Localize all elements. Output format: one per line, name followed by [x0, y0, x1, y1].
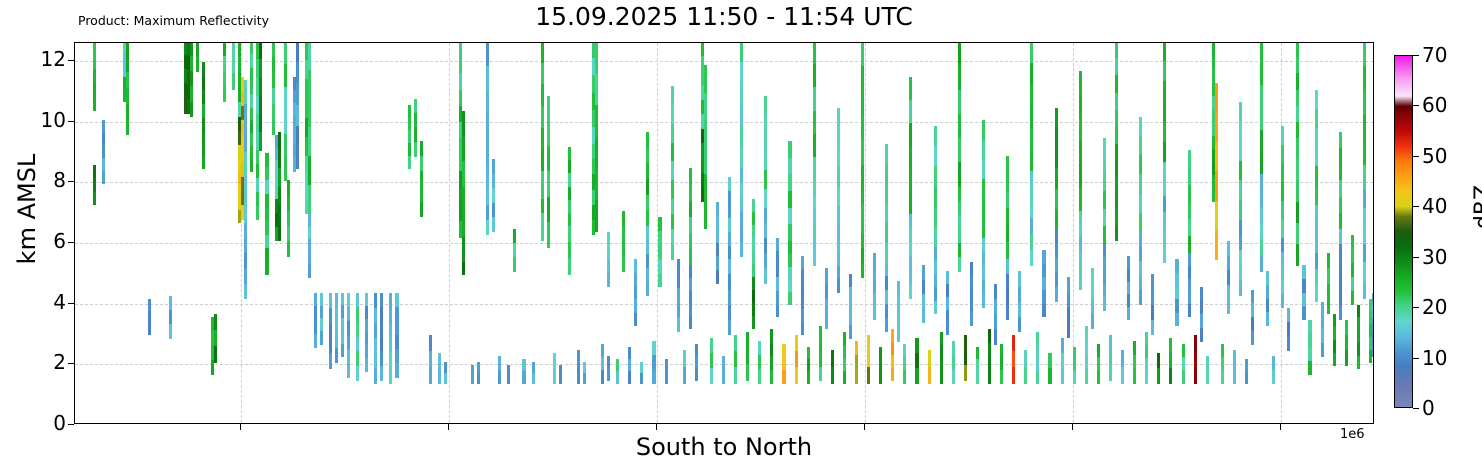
reflectivity-cell	[837, 266, 840, 280]
reflectivity-cell	[308, 214, 311, 227]
reflectivity-cell	[1372, 305, 1374, 318]
reflectivity-column	[634, 42, 637, 423]
reflectivity-cell	[934, 274, 937, 288]
reflectivity-cell	[607, 246, 610, 260]
reflectivity-cell	[671, 143, 674, 162]
reflectivity-cell	[1339, 164, 1342, 181]
reflectivity-cell	[795, 351, 798, 368]
reflectivity-cell	[250, 81, 253, 95]
reflectivity-column	[740, 42, 743, 423]
reflectivity-cell	[389, 338, 392, 354]
reflectivity-cell	[1145, 371, 1148, 384]
reflectivity-column	[429, 42, 432, 423]
reflectivity-column	[595, 42, 598, 423]
reflectivity-cell	[646, 210, 649, 226]
reflectivity-cell	[438, 368, 441, 384]
reflectivity-cell	[1215, 142, 1218, 172]
reflectivity-cell	[1315, 186, 1318, 206]
reflectivity-cell	[1061, 368, 1064, 384]
reflectivity-cell	[1055, 148, 1058, 169]
reflectivity-column	[374, 42, 377, 423]
reflectivity-cell	[522, 359, 525, 372]
reflectivity-cell	[1245, 359, 1248, 372]
reflectivity-cell	[1260, 174, 1263, 191]
reflectivity-cell	[1000, 344, 1003, 358]
reflectivity-column	[278, 42, 281, 423]
reflectivity-cell	[420, 202, 423, 218]
reflectivity-cell	[970, 288, 973, 301]
reflectivity-column	[758, 42, 761, 423]
reflectivity-cell	[764, 253, 767, 269]
reflectivity-cell	[1024, 350, 1027, 367]
reflectivity-cell	[1315, 269, 1318, 286]
reflectivity-cell	[202, 90, 205, 104]
reflectivity-cell	[374, 368, 377, 384]
reflectivity-cell	[634, 259, 637, 273]
reflectivity-cell	[940, 358, 943, 371]
reflectivity-cell	[1163, 229, 1166, 246]
x-axis-offset-text: 1e6	[1340, 427, 1365, 442]
reflectivity-cell	[1139, 276, 1142, 291]
reflectivity-cell	[982, 252, 985, 266]
reflectivity-cell	[704, 65, 707, 93]
reflectivity-cell	[1163, 42, 1166, 62]
reflectivity-cell	[196, 56, 199, 72]
reflectivity-cell	[1139, 117, 1142, 137]
reflectivity-column	[287, 42, 290, 423]
colorbar-tick-label: 30	[1422, 247, 1447, 267]
colorbar-tick-label: 60	[1422, 95, 1447, 115]
reflectivity-cell	[438, 353, 441, 369]
reflectivity-cell	[1245, 371, 1248, 384]
reflectivity-cell	[1036, 358, 1039, 371]
reflectivity-column	[462, 42, 465, 423]
reflectivity-cell	[646, 179, 649, 195]
reflectivity-cell	[764, 268, 767, 284]
reflectivity-cell	[265, 235, 268, 249]
reflectivity-cell	[958, 65, 961, 90]
reflectivity-column	[710, 42, 713, 423]
reflectivity-cell	[813, 180, 816, 195]
reflectivity-cell	[640, 362, 643, 373]
y-tick-mark	[68, 121, 74, 122]
reflectivity-cell	[1036, 371, 1039, 384]
reflectivity-cell	[795, 335, 798, 352]
reflectivity-cell	[1103, 226, 1106, 244]
reflectivity-cell	[308, 185, 311, 214]
reflectivity-cell	[595, 105, 598, 137]
reflectivity-cell	[296, 83, 299, 105]
reflectivity-cell	[196, 42, 199, 57]
reflectivity-cell	[1302, 265, 1305, 279]
reflectivity-cell	[770, 356, 773, 370]
reflectivity-cell	[795, 367, 798, 384]
reflectivity-cell	[861, 42, 864, 66]
reflectivity-cell	[764, 133, 767, 152]
reflectivity-cell	[988, 356, 991, 370]
reflectivity-column	[1308, 42, 1311, 423]
reflectivity-cell	[1006, 156, 1009, 174]
reflectivity-cell	[885, 262, 888, 276]
reflectivity-cell	[1188, 236, 1191, 254]
x-tick-mark	[1072, 424, 1073, 430]
reflectivity-cell	[420, 171, 423, 187]
reflectivity-cell	[946, 271, 949, 284]
reflectivity-cell	[1079, 263, 1082, 277]
reflectivity-cell	[728, 218, 731, 232]
reflectivity-column	[689, 42, 692, 423]
reflectivity-column	[807, 42, 810, 423]
reflectivity-cell	[365, 345, 368, 359]
reflectivity-column	[855, 42, 858, 423]
reflectivity-cell	[1227, 256, 1230, 271]
reflectivity-cell	[595, 200, 598, 232]
colorbar-tick-mark	[1413, 257, 1419, 258]
reflectivity-cell	[498, 370, 501, 384]
reflectivity-cell	[1006, 242, 1009, 260]
reflectivity-cell	[788, 241, 791, 254]
reflectivity-cell	[1315, 166, 1318, 186]
reflectivity-cell	[934, 247, 937, 261]
reflectivity-cell	[380, 366, 383, 381]
reflectivity-cell	[380, 293, 383, 308]
reflectivity-cell	[1145, 345, 1148, 358]
reflectivity-cell	[885, 276, 888, 290]
reflectivity-cell	[93, 165, 96, 179]
reflectivity-cell	[1308, 347, 1311, 361]
reflectivity-cell	[471, 365, 474, 384]
reflectivity-cell	[1200, 314, 1203, 328]
reflectivity-cell	[622, 241, 625, 257]
reflectivity-column	[1272, 42, 1275, 423]
plot-axes[interactable]	[74, 42, 1374, 424]
reflectivity-cell	[492, 174, 495, 189]
reflectivity-cell	[855, 369, 858, 384]
reflectivity-cell	[1175, 259, 1178, 273]
reflectivity-cell	[764, 238, 767, 254]
reflectivity-cell	[190, 56, 193, 72]
reflectivity-cell	[1097, 357, 1100, 371]
reflectivity-cell	[837, 147, 840, 167]
reflectivity-cell	[232, 57, 235, 74]
reflectivity-cell	[347, 293, 350, 308]
reflectivity-cell	[395, 335, 398, 350]
reflectivity-cell	[1157, 353, 1160, 369]
reflectivity-cell	[934, 287, 937, 301]
reflectivity-column	[320, 42, 323, 423]
reflectivity-cell	[879, 359, 882, 372]
reflectivity-cell	[1266, 271, 1269, 285]
reflectivity-cell	[1215, 171, 1218, 201]
reflectivity-cell	[1030, 234, 1033, 250]
reflectivity-cell	[1281, 238, 1284, 252]
reflectivity-cell	[1000, 370, 1003, 384]
reflectivity-cell	[1006, 191, 1009, 209]
reflectivity-cell	[214, 314, 217, 331]
reflectivity-cell	[1251, 290, 1254, 304]
reflectivity-cell	[265, 194, 268, 208]
reflectivity-cell	[541, 42, 544, 63]
reflectivity-cell	[671, 105, 674, 124]
reflectivity-cell	[1018, 302, 1021, 318]
reflectivity-column	[1321, 42, 1324, 423]
reflectivity-cell	[665, 371, 668, 384]
reflectivity-cell	[671, 244, 674, 260]
reflectivity-cell	[320, 331, 323, 344]
reflectivity-cell	[982, 199, 985, 219]
reflectivity-cell	[347, 335, 350, 350]
reflectivity-cell	[356, 307, 359, 322]
reflectivity-cell	[658, 273, 661, 287]
reflectivity-cell	[746, 332, 749, 349]
reflectivity-column	[102, 42, 105, 423]
reflectivity-cell	[1127, 294, 1130, 307]
reflectivity-cell	[507, 365, 510, 384]
reflectivity-cell	[1357, 330, 1360, 343]
reflectivity-cell	[341, 344, 344, 357]
reflectivity-cell	[389, 323, 392, 339]
colorbar[interactable]	[1394, 55, 1413, 408]
reflectivity-cell	[583, 373, 586, 384]
reflectivity-cell	[356, 366, 359, 381]
reflectivity-cell	[1372, 331, 1374, 344]
reflectivity-cell	[934, 126, 937, 147]
reflectivity-cell	[308, 70, 311, 99]
reflectivity-cell	[308, 227, 311, 240]
reflectivity-cell	[946, 322, 949, 335]
reflectivity-cell	[689, 201, 692, 218]
reflectivity-cell	[934, 166, 937, 187]
reflectivity-cell	[223, 86, 226, 102]
reflectivity-cell	[934, 207, 937, 228]
reflectivity-cell	[265, 248, 268, 262]
reflectivity-cell	[462, 187, 465, 213]
reflectivity-cell	[970, 262, 973, 275]
reflectivity-cell	[1139, 247, 1142, 262]
reflectivity-column	[601, 42, 604, 423]
reflectivity-cell	[356, 351, 359, 366]
y-tick-mark	[68, 181, 74, 182]
reflectivity-column	[988, 42, 991, 423]
reflectivity-cell	[1018, 317, 1021, 333]
reflectivity-cell	[1024, 367, 1027, 384]
reflectivity-cell	[1339, 305, 1342, 321]
reflectivity-column	[365, 42, 368, 423]
reflectivity-cell	[940, 332, 943, 345]
reflectivity-column	[665, 42, 668, 423]
reflectivity-cell	[1121, 367, 1124, 384]
colorbar-tick-label: 0	[1422, 398, 1435, 418]
reflectivity-cell	[752, 238, 755, 252]
reflectivity-cell	[1333, 353, 1336, 366]
reflectivity-cell	[1127, 307, 1130, 320]
reflectivity-cell	[897, 311, 900, 327]
reflectivity-cell	[764, 96, 767, 115]
reflectivity-cell	[244, 284, 247, 300]
reflectivity-cell	[1109, 350, 1112, 366]
reflectivity-cell	[1221, 370, 1224, 384]
reflectivity-column	[1239, 42, 1242, 423]
reflectivity-cell	[801, 256, 804, 270]
reflectivity-cell	[568, 173, 571, 187]
reflectivity-cell	[891, 368, 894, 381]
reflectivity-column	[934, 42, 937, 423]
reflectivity-column	[395, 42, 398, 423]
reflectivity-cell	[728, 177, 731, 191]
reflectivity-cell	[1339, 132, 1342, 149]
reflectivity-cell	[244, 199, 247, 223]
reflectivity-cell	[1281, 280, 1284, 294]
reflectivity-cell	[728, 305, 731, 321]
reflectivity-cell	[1079, 95, 1082, 119]
reflectivity-cell	[1188, 291, 1191, 304]
reflectivity-cell	[1115, 225, 1118, 242]
reflectivity-cell	[568, 258, 571, 275]
reflectivity-cell	[335, 348, 338, 362]
reflectivity-cell	[486, 205, 489, 221]
reflectivity-cell	[861, 66, 864, 91]
reflectivity-cell	[1266, 285, 1269, 299]
reflectivity-cell	[568, 187, 571, 201]
reflectivity-cell	[922, 265, 925, 280]
reflectivity-cell	[734, 335, 737, 352]
reflectivity-cell	[1339, 290, 1342, 306]
reflectivity-cell	[716, 256, 719, 270]
reflectivity-cell	[202, 144, 205, 157]
reflectivity-cell	[1115, 209, 1118, 226]
reflectivity-cell	[740, 168, 743, 183]
reflectivity-column	[414, 42, 417, 423]
reflectivity-column	[486, 42, 489, 423]
reflectivity-cell	[764, 152, 767, 171]
reflectivity-column	[532, 42, 535, 423]
reflectivity-cell	[837, 187, 840, 207]
reflectivity-cell	[1260, 152, 1263, 175]
reflectivity-cell	[813, 209, 816, 224]
reflectivity-cell	[740, 198, 743, 213]
x-axis-label: South to North	[74, 432, 1374, 462]
reflectivity-cell	[1363, 66, 1366, 91]
reflectivity-cell	[265, 261, 268, 275]
reflectivity-cell	[1215, 201, 1218, 231]
reflectivity-cell	[486, 115, 489, 140]
reflectivity-column	[1139, 42, 1142, 423]
reflectivity-cell	[259, 114, 262, 133]
reflectivity-cell	[148, 311, 151, 324]
reflectivity-cell	[837, 108, 840, 128]
reflectivity-cell	[1260, 239, 1263, 256]
reflectivity-cell	[329, 308, 332, 324]
reflectivity-cell	[1308, 320, 1311, 334]
reflectivity-cell	[897, 326, 900, 342]
reflectivity-cell	[265, 221, 268, 235]
reflectivity-cell	[408, 143, 411, 156]
reflectivity-cell	[1233, 367, 1236, 384]
reflectivity-cell	[801, 296, 804, 310]
reflectivity-column	[695, 42, 698, 423]
reflectivity-column	[1188, 42, 1191, 423]
reflectivity-cell	[861, 248, 864, 263]
reflectivity-cell	[1061, 338, 1064, 354]
reflectivity-cell	[855, 341, 858, 356]
reflectivity-cell	[813, 237, 816, 252]
reflectivity-cell	[308, 252, 311, 265]
reflectivity-column	[583, 42, 586, 423]
reflectivity-cell	[1315, 237, 1318, 254]
reflectivity-cell	[1115, 110, 1118, 128]
reflectivity-cell	[93, 97, 96, 111]
reflectivity-column	[1073, 42, 1076, 423]
reflectivity-cell	[1012, 367, 1015, 384]
reflectivity-column	[843, 42, 846, 423]
reflectivity-cell	[849, 313, 852, 326]
reflectivity-cell	[782, 370, 785, 384]
reflectivity-column	[946, 42, 949, 423]
reflectivity-cell	[988, 343, 991, 357]
reflectivity-cell	[296, 105, 299, 127]
reflectivity-cell	[308, 156, 311, 185]
reflectivity-cell	[1302, 306, 1305, 320]
reflectivity-column	[752, 42, 755, 423]
reflectivity-cell	[420, 141, 423, 157]
reflectivity-cell	[265, 180, 268, 194]
reflectivity-cell	[1260, 108, 1263, 131]
reflectivity-cell	[776, 264, 779, 278]
reflectivity-cell	[287, 196, 290, 212]
reflectivity-cell	[764, 223, 767, 239]
reflectivity-cell	[934, 227, 937, 248]
reflectivity-column	[746, 42, 749, 423]
reflectivity-cell	[287, 180, 290, 196]
reflectivity-cell	[909, 242, 912, 257]
reflectivity-cell	[982, 140, 985, 160]
reflectivity-cell	[607, 259, 610, 273]
reflectivity-cell	[994, 329, 997, 345]
reflectivity-cell	[646, 163, 649, 179]
reflectivity-cell	[837, 239, 840, 253]
reflectivity-cell	[320, 293, 323, 306]
reflectivity-cell	[646, 282, 649, 296]
reflectivity-cell	[1251, 331, 1254, 345]
reflectivity-cell	[1103, 173, 1106, 191]
reflectivity-cell	[1030, 63, 1033, 85]
reflectivity-cell	[849, 287, 852, 300]
reflectivity-cell	[782, 344, 785, 358]
reflectivity-cell	[547, 222, 550, 248]
reflectivity-column	[347, 42, 350, 423]
reflectivity-cell	[1296, 223, 1299, 245]
reflectivity-cell	[728, 274, 731, 290]
reflectivity-cell	[1302, 279, 1305, 293]
reflectivity-column	[1042, 42, 1045, 423]
reflectivity-cell	[958, 42, 961, 66]
reflectivity-cell	[1091, 268, 1094, 284]
reflectivity-cell	[486, 91, 489, 116]
reflectivity-cell	[1296, 138, 1299, 160]
reflectivity-column	[1127, 42, 1130, 423]
reflectivity-cell	[1055, 258, 1058, 273]
x-tick-mark	[656, 424, 657, 430]
reflectivity-cell	[547, 197, 550, 223]
reflectivity-cell	[752, 251, 755, 265]
reflectivity-cell	[498, 356, 501, 370]
reflectivity-cell	[202, 118, 205, 132]
reflectivity-cell	[1233, 350, 1236, 367]
reflectivity-cell	[909, 100, 912, 123]
reflectivity-column	[1103, 42, 1106, 423]
reflectivity-cell	[1139, 136, 1142, 156]
reflectivity-cell	[1169, 368, 1172, 384]
